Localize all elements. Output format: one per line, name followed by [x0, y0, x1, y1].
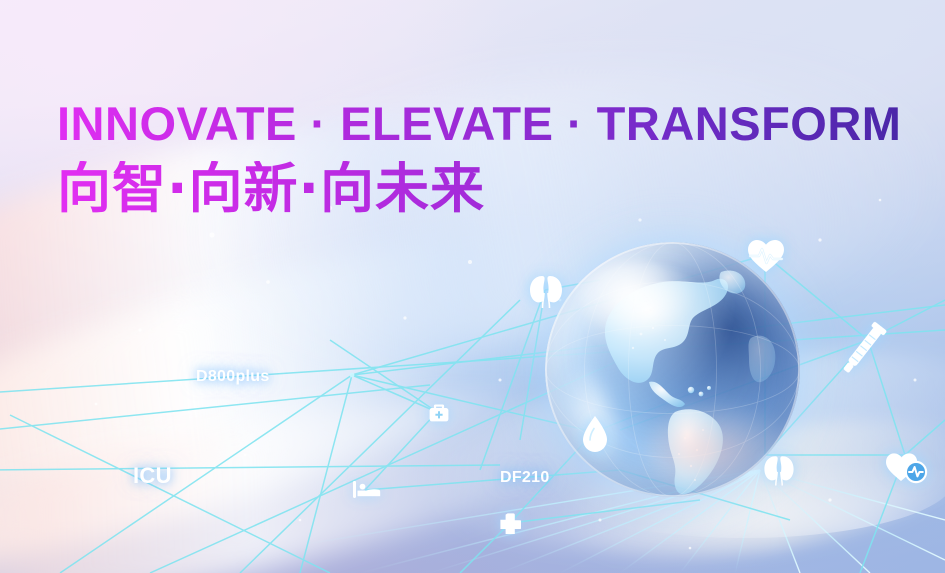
headline-block: INNOVATE · ELEVATE · TRANSFORM 向智·向新·向未来: [57, 100, 901, 218]
headline-english: INNOVATE · ELEVATE · TRANSFORM: [57, 100, 901, 147]
heart-pulse-icon: [745, 236, 787, 278]
water-drop-icon: [578, 414, 612, 454]
medical-kit-icon: [427, 401, 451, 425]
heart-pulse-circle-icon: [884, 447, 930, 487]
kidneys-icon-lower: [758, 449, 800, 491]
medical-cross-icon: [499, 512, 521, 534]
syringe-icon: [835, 318, 891, 380]
label-df210: DF210: [500, 469, 550, 487]
label-icu: ICU: [133, 463, 172, 489]
label-d800plus: D800plus: [196, 368, 270, 386]
headline-chinese: 向智·向新·向未来: [57, 161, 901, 218]
hero-banner: D800plus ICU DF210 INNOVATE · ELEVATE · …: [0, 0, 945, 573]
kidneys-icon: [523, 268, 569, 314]
hospital-bed-icon: [352, 478, 382, 500]
